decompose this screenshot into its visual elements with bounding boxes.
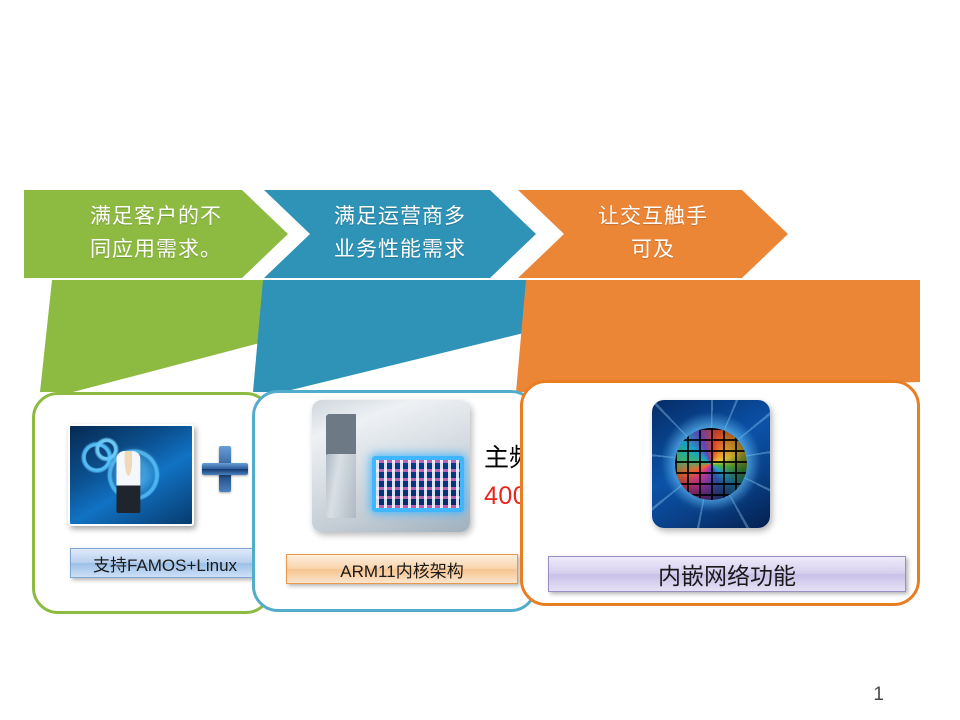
banner-operator-needs[interactable]: 满足运营商多 业务性能需求 [264, 190, 536, 278]
funnel-wedge-orange [516, 280, 920, 392]
media-globe-image [652, 400, 770, 528]
server-tower-image [312, 400, 470, 532]
slide-canvas: 满足客户的不 同应用需求。 满足运营商多 业务性能需求 让交互触手 可及 支持F… [0, 0, 960, 720]
banner-interaction-line1: 让交互触手 [598, 201, 708, 234]
caption-os[interactable]: 支持FAMOS+Linux [70, 548, 260, 578]
caption-network[interactable]: 内嵌网络功能 [548, 556, 906, 592]
funnel-wedge-green [40, 280, 290, 392]
banner-customer-needs[interactable]: 满足客户的不 同应用需求。 [24, 190, 288, 278]
page-number: 1 [873, 684, 884, 706]
banner-operator-needs-line2: 业务性能需求 [334, 234, 466, 267]
funnel-wedge-blue [253, 280, 536, 392]
woman-touch-interface-image [68, 424, 194, 526]
caption-cpu[interactable]: ARM11内核架构 [286, 554, 518, 584]
banner-interaction-line2: 可及 [631, 234, 675, 267]
banner-customer-needs-line2: 同应用需求。 [90, 234, 222, 267]
banner-customer-needs-line1: 满足客户的不 [90, 201, 222, 234]
banner-interaction[interactable]: 让交互触手 可及 [518, 190, 788, 278]
plus-icon [202, 446, 248, 492]
banner-operator-needs-line1: 满足运营商多 [334, 201, 466, 234]
